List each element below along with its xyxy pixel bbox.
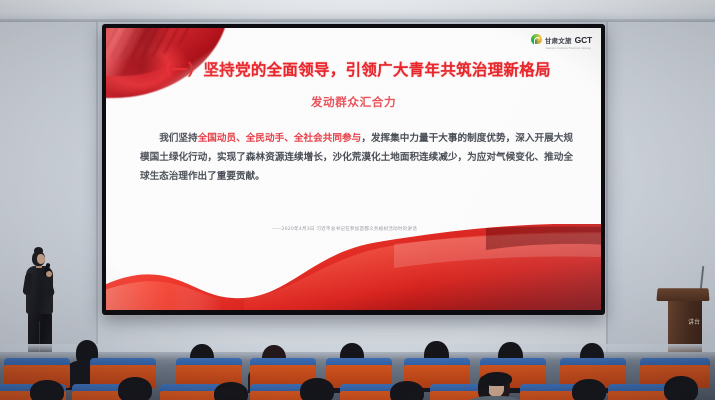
wall-seam-left bbox=[96, 22, 98, 352]
audience-head bbox=[30, 380, 64, 400]
presenter-face bbox=[37, 254, 45, 264]
logo-latin-text: GCT bbox=[575, 35, 592, 45]
logo-tagline: Gansu Culture Tourism Group bbox=[546, 46, 591, 50]
audience-head bbox=[118, 377, 152, 400]
lectern-body: 讲台 bbox=[668, 299, 702, 354]
wall-seam-right bbox=[606, 22, 608, 352]
audience-head bbox=[572, 379, 606, 400]
slide-subtitle: 发动群众汇合力 bbox=[106, 94, 601, 110]
brand-logo: 甘肃文旅 GCT Gansu Culture Tourism Group bbox=[531, 34, 592, 45]
presenter-speaker bbox=[18, 247, 66, 353]
audience-head bbox=[214, 382, 248, 400]
slide-canvas: 甘肃文旅 GCT Gansu Culture Tourism Group （一）… bbox=[106, 28, 601, 310]
logo-chinese-text: 甘肃文旅 bbox=[545, 35, 572, 45]
red-wave-svg bbox=[106, 224, 601, 310]
slide-body-text: 我们坚持全国动员、全民动手、全社会共同参与，发挥集中力量干大事的制度优势，深入开… bbox=[140, 129, 573, 186]
audience-row-2 bbox=[0, 372, 715, 400]
gansu-emblem-icon bbox=[531, 34, 542, 45]
presenter-hand bbox=[46, 271, 52, 277]
presentation-screen[interactable]: 甘肃文旅 GCT Gansu Culture Tourism Group （一）… bbox=[102, 24, 605, 315]
ribbon-wisp bbox=[106, 28, 202, 58]
presenter-hair-bun bbox=[34, 247, 43, 254]
audience-head bbox=[300, 378, 334, 400]
body-highlight: 全国动员、全民动手、全社会共同参与 bbox=[198, 133, 362, 144]
wooden-lectern: 讲台 bbox=[657, 288, 709, 354]
body-lead: 我们坚持 bbox=[159, 133, 198, 144]
slide-title: （一）坚持党的全面领导，引领广大青年共筑治理新格局 bbox=[106, 58, 601, 80]
lecture-hall-scene: 甘肃文旅 GCT Gansu Culture Tourism Group （一）… bbox=[0, 0, 715, 400]
audience-head bbox=[664, 376, 698, 400]
lectern-glyph: 讲台 bbox=[684, 319, 704, 327]
audience-head bbox=[390, 381, 424, 400]
lectern-top bbox=[656, 288, 709, 301]
red-wave-decoration-bottom bbox=[106, 224, 601, 310]
